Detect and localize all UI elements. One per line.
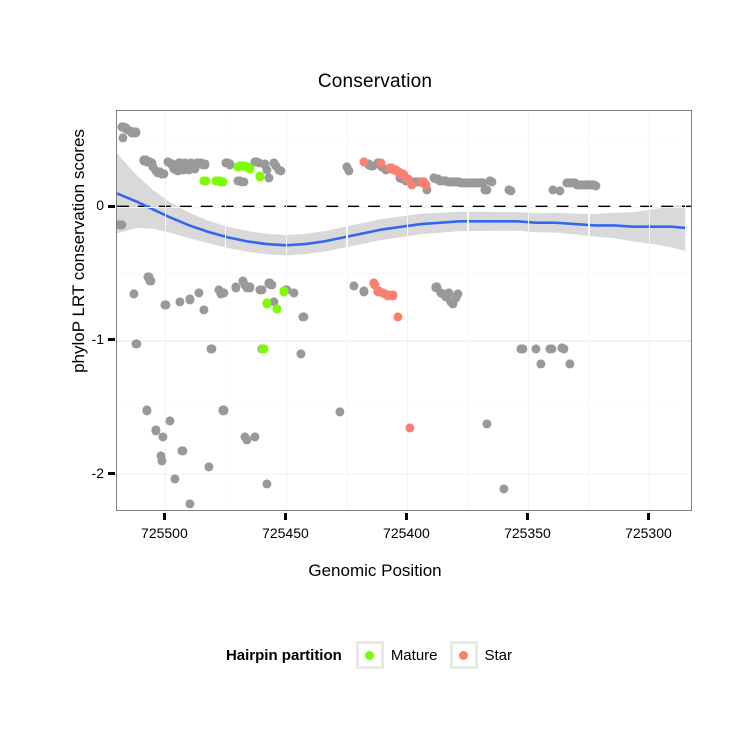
grid-line-minor <box>117 273 692 274</box>
grid-line-minor <box>117 407 692 408</box>
y-axis-tick-label: -1 <box>68 331 104 347</box>
grid-line-vertical <box>649 111 650 511</box>
grid-line-vertical <box>528 111 529 511</box>
legend-key-star <box>450 641 478 669</box>
x-axis-tick-label: 725450 <box>262 525 309 541</box>
y-axis-tick-label: 0 <box>68 197 104 213</box>
x-axis-tick <box>526 513 529 520</box>
trend-path <box>117 193 686 245</box>
legend-item-mature[interactable]: Mature <box>356 641 438 669</box>
legend-title: Hairpin partition <box>226 647 342 664</box>
x-axis-tick-label: 725300 <box>625 525 672 541</box>
y-axis-tick <box>108 205 115 208</box>
grid-line-minor <box>117 140 692 141</box>
grid-line-minor <box>225 111 226 511</box>
x-axis-tick <box>647 513 650 520</box>
x-axis-tick <box>405 513 408 520</box>
y-axis-tick-label: -2 <box>68 465 104 481</box>
grid-line-vertical <box>286 111 287 511</box>
grid-line-horizontal <box>117 474 692 475</box>
plot-panel <box>116 110 692 511</box>
grid-line-minor <box>685 111 686 511</box>
legend-dot-icon <box>365 651 374 660</box>
y-axis-title: phyloP LRT conservation scores <box>69 41 89 461</box>
grid-line-minor <box>588 111 589 511</box>
legend-key-mature <box>356 641 384 669</box>
legend-item-star[interactable]: Star <box>450 641 513 669</box>
y-axis-tick <box>108 472 115 475</box>
x-axis-tick-label: 725500 <box>141 525 188 541</box>
x-axis-title: Genomic Position <box>0 561 750 581</box>
x-axis-tick <box>284 513 287 520</box>
x-axis-tick <box>163 513 166 520</box>
y-axis-tick <box>108 338 115 341</box>
legend: Hairpin partition MatureStar <box>0 641 750 669</box>
legend-dot-icon <box>459 651 468 660</box>
grid-line-horizontal <box>117 207 692 208</box>
legend-label-star: Star <box>485 647 513 664</box>
conservation-chart: Conservation phyloP LRT conservation sco… <box>0 0 750 750</box>
legend-label-mature: Mature <box>391 647 438 664</box>
page-title: Conservation <box>0 71 750 93</box>
x-axis-tick-label: 725350 <box>504 525 551 541</box>
grid-line-horizontal <box>117 340 692 341</box>
x-axis-tick-label: 725400 <box>383 525 430 541</box>
grid-line-minor <box>467 111 468 511</box>
